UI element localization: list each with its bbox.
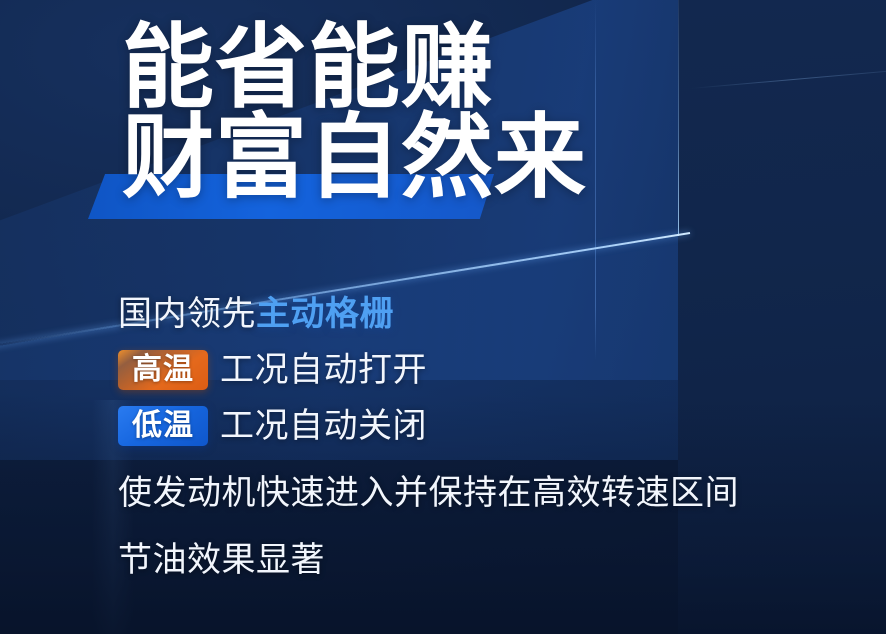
feature-row1-prefix: 国内领先 bbox=[118, 297, 256, 331]
feature-row-engine-rpm: 使发动机快速进入并保持在高效转速区间 bbox=[0, 454, 886, 532]
low-temp-badge: 低温 bbox=[118, 406, 208, 446]
promo-poster: 能省能赚 财富自然来 国内领先主动格栅 高温 工况自动打开 低温 工况自动关闭 … bbox=[0, 0, 886, 634]
headline-line-1: 能省能赚 bbox=[122, 22, 494, 114]
feature-row3-text: 工况自动关闭 bbox=[220, 409, 427, 443]
feature-row-leading: 国内领先主动格栅 bbox=[0, 286, 886, 342]
feature-row5-text: 节油效果显著 bbox=[118, 543, 325, 577]
feature-row1-accent: 主动格栅 bbox=[256, 297, 394, 331]
feature-row4-text: 使发动机快速进入并保持在高效转速区间 bbox=[118, 476, 739, 510]
feature-row2-text: 工况自动打开 bbox=[220, 353, 427, 387]
feature-row-fuel-saving: 节油效果显著 bbox=[0, 532, 886, 588]
high-temp-badge: 高温 bbox=[118, 350, 208, 390]
headline-line-2: 财富自然来 bbox=[122, 112, 587, 204]
feature-row-high-temp: 高温 工况自动打开 bbox=[0, 342, 886, 398]
feature-row-low-temp: 低温 工况自动关闭 bbox=[0, 398, 886, 454]
feature-list: 国内领先主动格栅 高温 工况自动打开 低温 工况自动关闭 使发动机快速进入并保持… bbox=[0, 286, 886, 588]
headline-block: 能省能赚 财富自然来 bbox=[0, 0, 886, 230]
